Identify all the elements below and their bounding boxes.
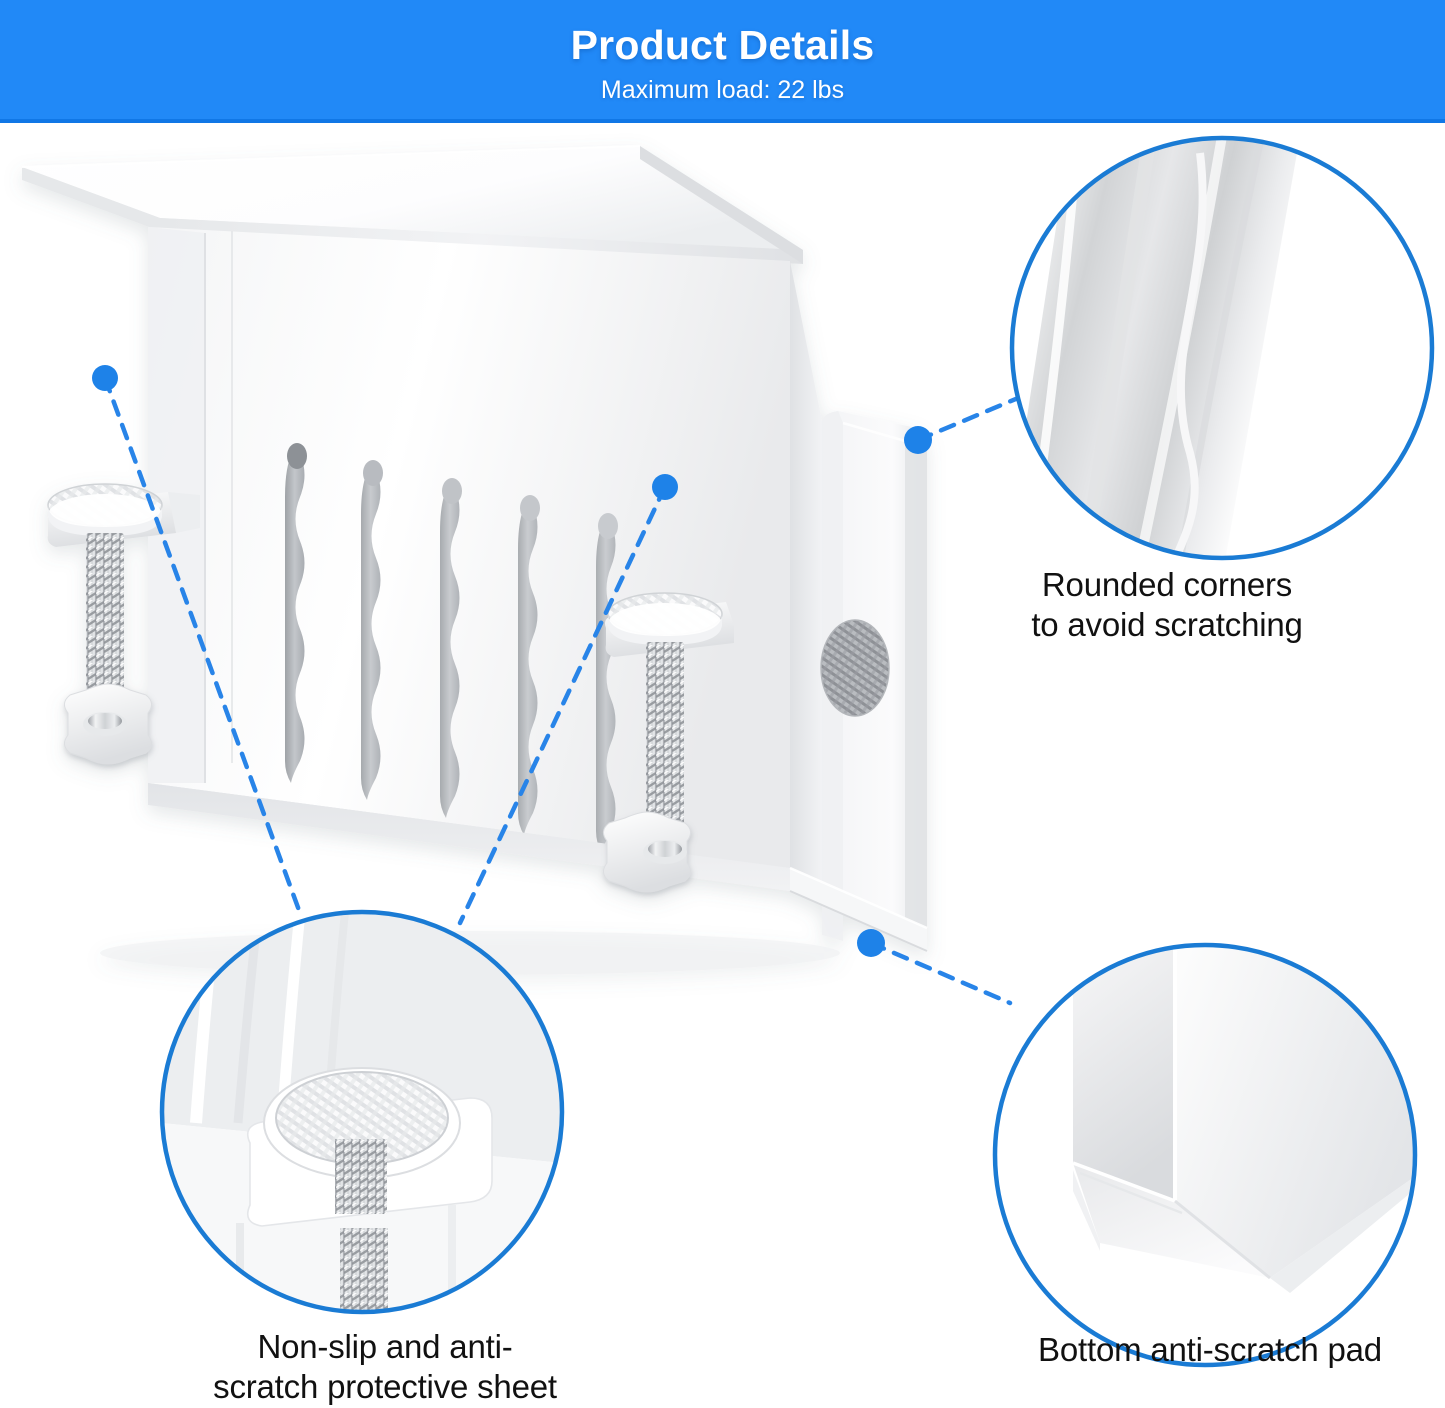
leader-line-rounded <box>918 393 1030 440</box>
leader-line-bottompad <box>871 943 1010 1003</box>
product-body <box>22 146 927 975</box>
callout-circle-rounded-corners <box>1005 136 1435 561</box>
clamp-knob <box>64 684 151 764</box>
infographic-canvas: Product Details Maximum load: 22 lbs <box>0 0 1445 1407</box>
back-panel <box>148 227 790 883</box>
marker-dot-clamp-pad-left <box>92 365 118 391</box>
marker-dot-clamp-pad-mid <box>652 474 678 500</box>
page-title: Product Details <box>571 25 875 66</box>
max-load-subtitle: Maximum load: 22 lbs <box>601 78 844 103</box>
callout-label-rounded-corners: Rounded corners to avoid scratching <box>957 565 1377 646</box>
marker-dot-bottom-pad <box>857 929 885 957</box>
callout-circle-non-slip-sheet <box>162 912 562 1312</box>
side-panel <box>790 261 927 941</box>
callout-label-bottom-pad: Bottom anti-scratch pad <box>1000 1330 1420 1370</box>
callout-circle-bottom-pad <box>995 945 1420 1370</box>
clamp-knob <box>603 812 690 892</box>
marker-dot-rounded-corner <box>904 426 932 454</box>
side-pad <box>821 620 889 716</box>
callout-label-non-slip-sheet: Non-slip and anti- scratch protective sh… <box>150 1327 620 1408</box>
header-banner: Product Details Maximum load: 22 lbs <box>0 0 1445 123</box>
product-illustration <box>0 123 1445 1407</box>
